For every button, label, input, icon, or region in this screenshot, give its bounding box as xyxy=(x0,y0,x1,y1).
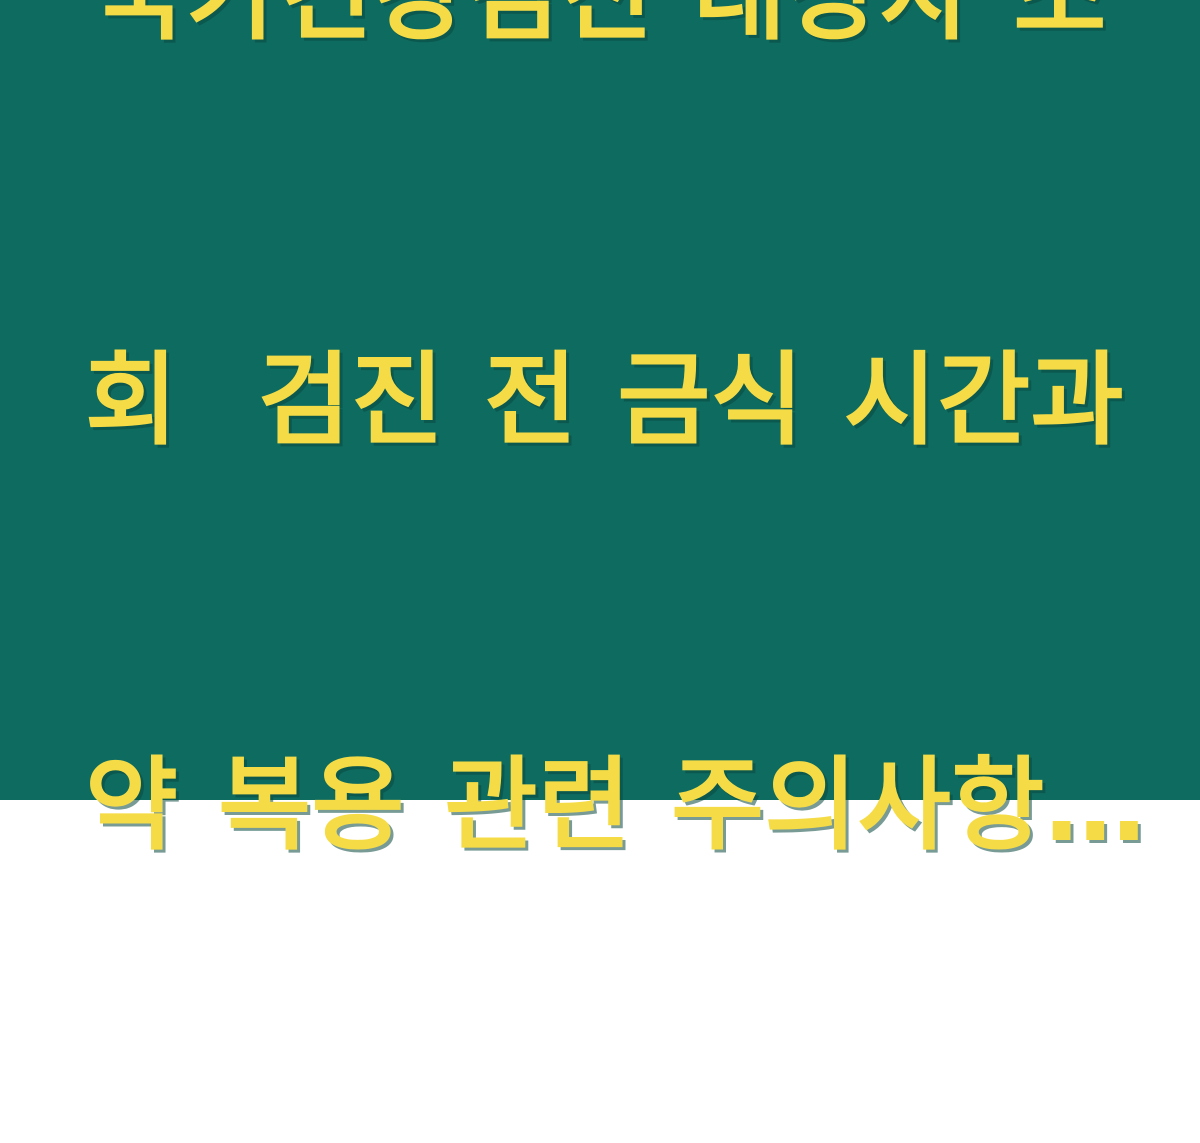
page-title-line-2: 회 검진 전 금식 시간과 xyxy=(85,333,1115,468)
title-card: 국가건강검진 대상자 조 회 검진 전 금식 시간과 약 복용 관련 주의사항… xyxy=(0,0,1200,800)
page-title-line-1: 국가건강검진 대상자 조 xyxy=(85,0,1115,63)
page-title: 국가건강검진 대상자 조 회 검진 전 금식 시간과 약 복용 관련 주의사항… xyxy=(85,0,1115,1143)
page-title-line-3: 약 복용 관련 주의사항… xyxy=(85,738,1115,873)
